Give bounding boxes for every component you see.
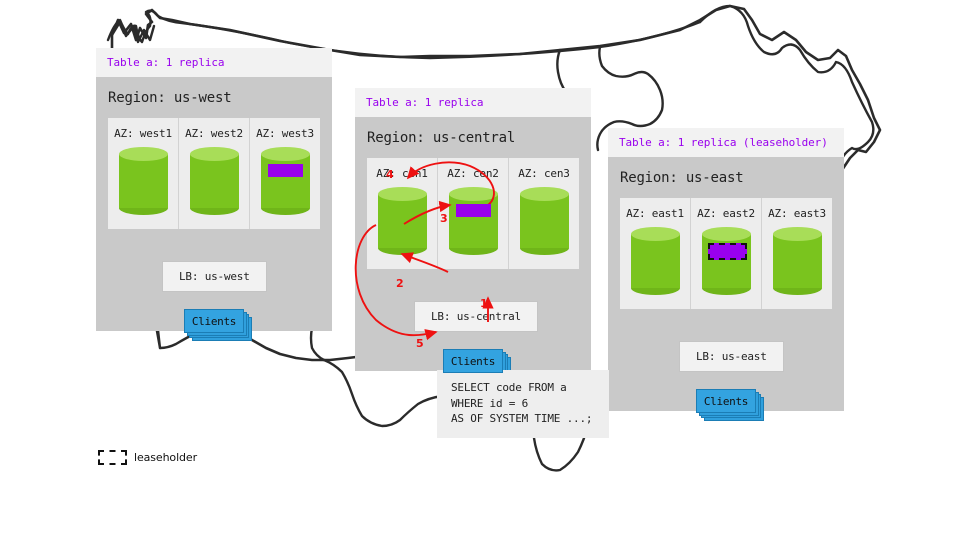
az-cen3[interactable]: AZ: cen3 [509,158,579,269]
az-row-us-east: AZ: east1 AZ: east2 [620,198,832,309]
region-title-us-west: Region: us-west [96,77,332,118]
step-number-5: 5 [416,337,424,350]
az-label: AZ: cen3 [509,167,579,180]
region-body-us-central: Region: us-central AZ: cen1 AZ: cen2 [355,117,591,371]
replica-cylinder[interactable] [449,187,498,255]
cylinder-top [261,147,310,161]
replica-cylinder[interactable] [773,227,822,295]
az-label: AZ: west2 [179,127,249,140]
replica-cylinder[interactable] [190,147,239,215]
az-label: AZ: east3 [762,207,832,220]
cylinder-top [773,227,822,241]
az-row-us-west: AZ: west1 AZ: west2 AZ [108,118,320,229]
az-row-us-central: AZ: cen1 AZ: cen2 [367,158,579,269]
range-replica-marker [456,204,491,217]
az-west1[interactable]: AZ: west1 [108,118,179,229]
sql-query-box: SELECT code FROM a WHERE id = 6 AS OF SY… [437,370,609,438]
cylinder-top [702,227,751,241]
step-number-3: 3 [440,212,448,225]
replica-cylinder[interactable] [520,187,569,255]
leaseholder-range-marker [708,243,747,260]
cylinder-body [449,194,498,248]
clients-stack-us-central[interactable]: Clients [443,349,509,374]
az-label: AZ: cen2 [438,167,508,180]
az-cen2[interactable]: AZ: cen2 [438,158,509,269]
az-cen1[interactable]: AZ: cen1 [367,158,438,269]
region-panel-us-central: Table a: 1 replica Region: us-central AZ… [355,88,591,371]
cylinder-top [378,187,427,201]
cylinder-top [119,147,168,161]
load-balancer-us-east[interactable]: LB: us-east [679,341,784,372]
clients-stack-us-east[interactable]: Clients [696,389,762,414]
region-body-us-west: Region: us-west AZ: west1 AZ: west2 [96,77,332,331]
cylinder-body [261,154,310,208]
replica-cylinder[interactable] [261,147,310,215]
cylinder-body [631,234,680,288]
clients-label[interactable]: Clients [184,309,244,333]
load-balancer-us-central[interactable]: LB: us-central [414,301,538,332]
az-label: AZ: east2 [691,207,761,220]
az-label: AZ: west3 [250,127,320,140]
region-panel-us-east: Table a: 1 replica (leaseholder) Region:… [608,128,844,411]
az-label: AZ: east1 [620,207,690,220]
az-label: AZ: cen1 [367,167,437,180]
region-title-us-east: Region: us-east [608,157,844,198]
load-balancer-us-west[interactable]: LB: us-west [162,261,267,292]
legend-label: leaseholder [134,451,197,464]
cylinder-top [449,187,498,201]
cylinder-body [773,234,822,288]
replica-cylinder[interactable] [378,187,427,255]
az-east1[interactable]: AZ: east1 [620,198,691,309]
region-panel-us-west: Table a: 1 replica Region: us-west AZ: w… [96,48,332,331]
step-number-4: 4 [386,168,394,181]
az-west2[interactable]: AZ: west2 [179,118,250,229]
step-number-1: 1 [480,297,488,310]
replica-cylinder[interactable] [702,227,751,295]
region-header-us-east: Table a: 1 replica (leaseholder) [608,128,844,157]
region-header-us-west: Table a: 1 replica [96,48,332,77]
region-header-us-central: Table a: 1 replica [355,88,591,117]
replica-cylinder[interactable] [631,227,680,295]
clients-stack-us-west[interactable]: Clients [184,309,250,334]
replica-cylinder[interactable] [119,147,168,215]
cylinder-body [119,154,168,208]
cylinder-top [631,227,680,241]
clients-label[interactable]: Clients [696,389,756,413]
range-replica-marker [268,164,303,177]
cylinder-body [520,194,569,248]
az-label: AZ: west1 [108,127,178,140]
step-number-2: 2 [396,277,404,290]
legend-leaseholder: leaseholder [98,450,197,465]
cylinder-top [520,187,569,201]
az-east2[interactable]: AZ: east2 [691,198,762,309]
dashed-rect-icon [98,450,127,465]
cylinder-body [378,194,427,248]
cylinder-top [190,147,239,161]
az-east3[interactable]: AZ: east3 [762,198,832,309]
region-body-us-east: Region: us-east AZ: east1 AZ: east2 [608,157,844,411]
clients-label[interactable]: Clients [443,349,503,373]
diagram-canvas: Table a: 1 replica Region: us-west AZ: w… [0,0,960,540]
region-title-us-central: Region: us-central [355,117,591,158]
az-west3[interactable]: AZ: west3 [250,118,320,229]
cylinder-body [190,154,239,208]
